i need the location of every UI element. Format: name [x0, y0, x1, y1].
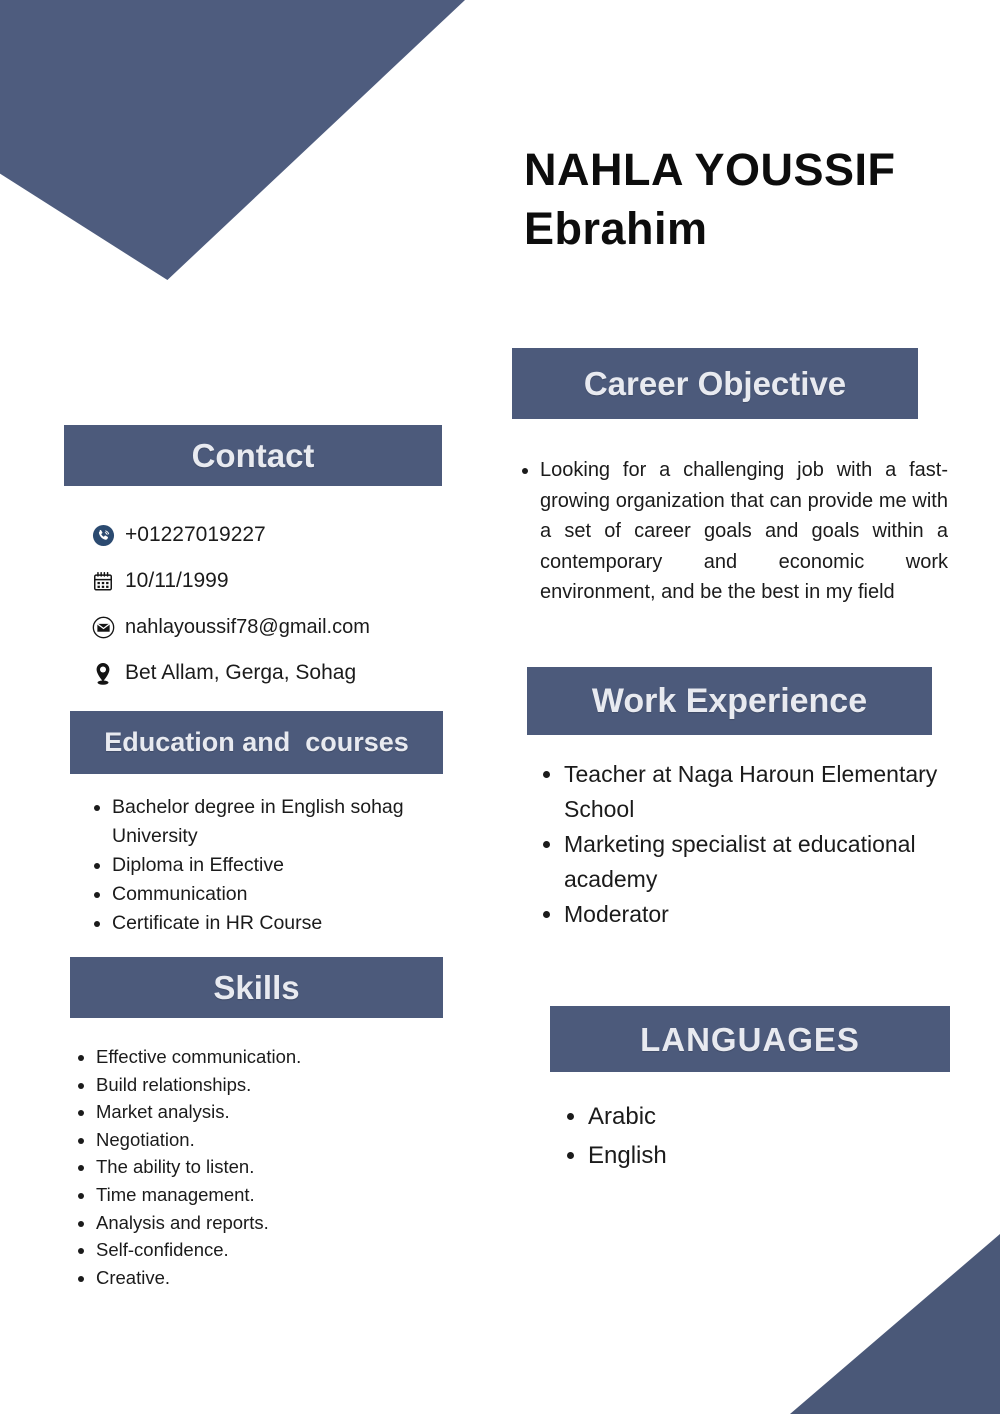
section-header-career-objective: Career Objective: [512, 348, 918, 419]
candidate-name: NAHLA YOUSSIF Ebrahim: [524, 140, 974, 258]
list-item: Teacher at Naga Haroun Elementary School: [564, 757, 964, 827]
contact-value-address: Bet Allam, Gerga, Sohag: [125, 661, 356, 685]
contact-item-birthdate: 10/11/1999: [88, 558, 448, 604]
decorative-triangle-top-left: [0, 0, 465, 280]
list-item: Certificate in HR Course: [112, 909, 472, 938]
list-item: Build relationships.: [96, 1071, 466, 1099]
section-title-contact: Contact: [192, 439, 315, 472]
section-header-skills: Skills: [70, 957, 443, 1018]
list-item: Time management.: [96, 1181, 466, 1209]
list-item: Negotiation.: [96, 1126, 466, 1154]
name-line-first: NAHLA YOUSSIF: [524, 140, 974, 199]
phone-icon: [88, 522, 118, 548]
contact-item-address: Bet Allam, Gerga, Sohag: [88, 650, 448, 696]
section-title-education: Education and courses: [104, 729, 409, 756]
list-item: Creative.: [96, 1264, 466, 1292]
decorative-triangle-bottom-right: [790, 1234, 1000, 1414]
list-item: Moderator: [564, 897, 964, 932]
list-item: Effective communication.: [96, 1043, 466, 1071]
resume-page: NAHLA YOUSSIF Ebrahim Contact +012270192…: [0, 0, 1000, 1414]
section-header-contact: Contact: [64, 425, 442, 486]
list-item: English: [588, 1136, 938, 1175]
list-item: Communication: [112, 880, 472, 909]
list-item: The ability to listen.: [96, 1153, 466, 1181]
languages-list: Arabic English: [562, 1097, 938, 1175]
calendar-icon: [88, 568, 118, 594]
list-item: Diploma in Effective: [112, 851, 472, 880]
name-line-last: Ebrahim: [524, 199, 974, 258]
section-title-languages: LANGUAGES: [640, 1023, 860, 1056]
education-list: Bachelor degree in English sohag Univers…: [86, 793, 472, 938]
location-icon: [88, 660, 118, 686]
contact-value-email[interactable]: nahlayoussif78@gmail.com: [125, 616, 370, 639]
section-title-career-objective: Career Objective: [584, 367, 846, 400]
section-title-skills: Skills: [213, 971, 299, 1004]
list-item: Analysis and reports.: [96, 1209, 466, 1237]
work-experience-list: Teacher at Naga Haroun Elementary School…: [538, 757, 964, 932]
list-item: Arabic: [588, 1097, 938, 1136]
section-title-work-experience: Work Experience: [592, 684, 867, 718]
career-objective-list: Looking for a challenging job with a fas…: [514, 455, 948, 608]
section-header-work-experience: Work Experience: [527, 667, 932, 735]
contact-list: +01227019227 10/11/: [88, 512, 448, 696]
list-item: Marketing specialist at educational acad…: [564, 827, 964, 897]
list-item: Market analysis.: [96, 1098, 466, 1126]
contact-item-email: nahlayoussif78@gmail.com: [88, 604, 448, 650]
section-header-languages: LANGUAGES: [550, 1006, 950, 1072]
contact-value-phone[interactable]: +01227019227: [125, 523, 266, 547]
section-header-education: Education and courses: [70, 711, 443, 774]
list-item: Looking for a challenging job with a fas…: [540, 455, 948, 608]
contact-value-birthdate: 10/11/1999: [125, 569, 229, 593]
email-icon: [88, 614, 118, 640]
list-item: Self-confidence.: [96, 1236, 466, 1264]
list-item: Bachelor degree in English sohag Univers…: [112, 793, 472, 851]
skills-list: Effective communication. Build relations…: [70, 1043, 466, 1291]
contact-item-phone: +01227019227: [88, 512, 448, 558]
